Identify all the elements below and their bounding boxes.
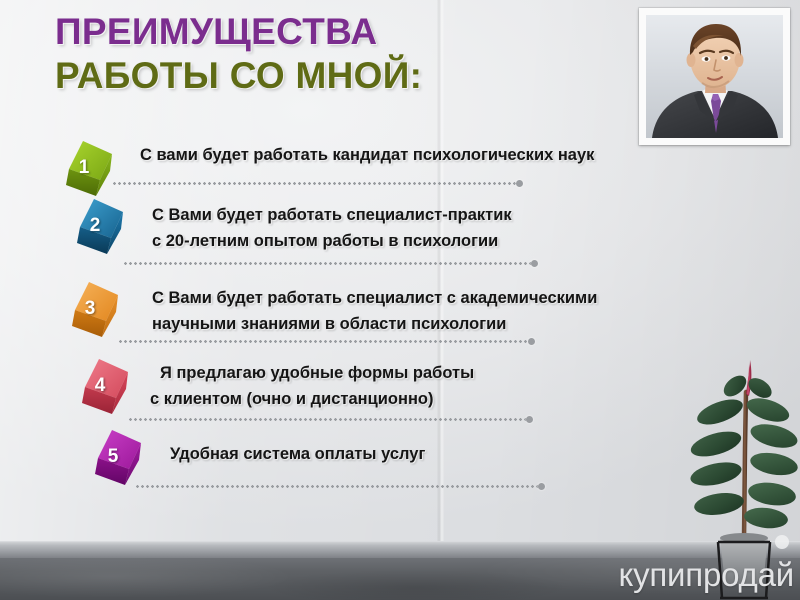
- number-cube-3: 3: [62, 279, 124, 341]
- item-text-1-line-1: С вами будет работать кандидат психологи…: [140, 144, 594, 167]
- number-cube-1: 1: [56, 138, 118, 200]
- portrait-photo-frame: [639, 8, 790, 145]
- cube-number-label: 1: [53, 137, 115, 199]
- cube-number-label: 5: [82, 426, 144, 488]
- item-text-4-line-2: с клиентом (очно и дистанционно): [150, 388, 434, 411]
- dotted-connector-3: [118, 340, 530, 343]
- dotted-connector-end-3: [528, 338, 535, 345]
- number-cube-5: 5: [85, 427, 147, 489]
- item-text-3-line-2: научными знаниями в области психологии: [152, 313, 506, 336]
- dotted-connector-end-5: [538, 483, 545, 490]
- dotted-connector-end-1: [516, 180, 523, 187]
- item-text-2-line-1: С Вами будет работать специалист-практик: [152, 204, 512, 227]
- dotted-connector-1: [112, 182, 518, 185]
- cube-number-label: 2: [64, 195, 126, 257]
- item-text-4-line-1: Я предлагаю удобные формы работы: [160, 362, 474, 385]
- watermark: купипродай: [618, 556, 794, 594]
- portrait-photo: [646, 15, 783, 138]
- number-cube-2: 2: [67, 196, 129, 258]
- item-text-5-line-1: Удобная система оплаты услуг: [170, 443, 425, 466]
- dotted-connector-end-2: [531, 260, 538, 267]
- dotted-connector-2: [123, 262, 533, 265]
- cube-number-label: 4: [69, 355, 131, 417]
- item-text-2-line-2: с 20-летним опытом работы в психологии: [152, 230, 498, 253]
- portrait-illustration: [646, 15, 783, 138]
- dotted-connector-5: [135, 485, 540, 488]
- dotted-connector-4: [128, 418, 528, 421]
- item-text-3-line-1: С Вами будет работать специалист с акаде…: [152, 287, 597, 310]
- cube-number-label: 3: [59, 278, 121, 340]
- number-cube-4: 4: [72, 356, 134, 418]
- dotted-connector-end-4: [526, 416, 533, 423]
